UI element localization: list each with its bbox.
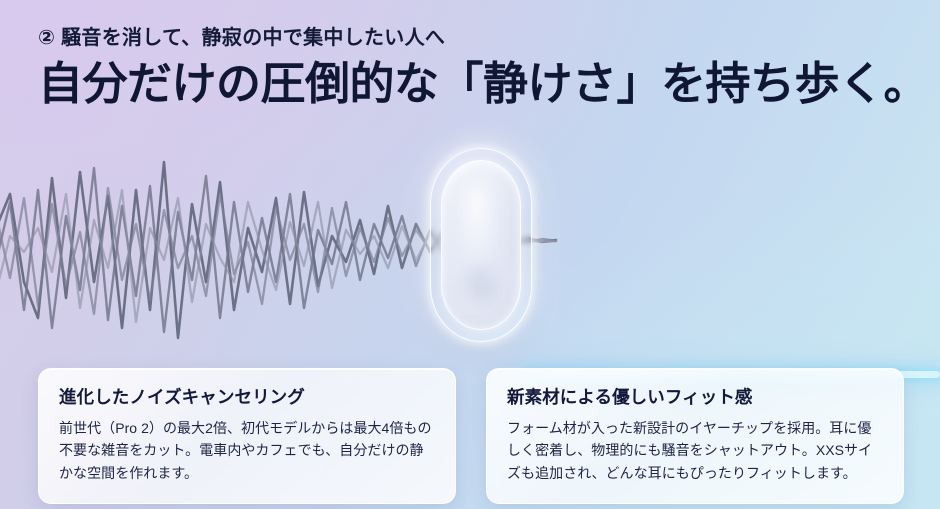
eyebrow-text: ② 騒音を消して、静寂の中で集中したい人へ [38,26,908,50]
feature-card-list: 進化したノイズキャンセリング 前世代（Pro 2）の最大2倍、初代モデルからは最… [38,368,904,504]
card-body: 前世代（Pro 2）の最大2倍、初代モデルからは最大4倍もの不要な雑音をカット。… [59,417,435,485]
card-body: フォーム材が入った新設計のイヤーチップを採用。耳に優しく密着し、物理的にも騒音を… [507,417,883,485]
card-title: 進化したノイズキャンセリング [59,386,435,409]
card-title: 新素材による優しいフィット感 [507,386,883,409]
capsule-highlight [464,185,490,271]
feature-card-noise-cancelling: 進化したノイズキャンセリング 前世代（Pro 2）の最大2倍、初代モデルからは最… [38,368,456,504]
page-title: 自分だけの圧倒的な「静けさ」を持ち歩く。 [38,58,908,110]
headline-block: ② 騒音を消して、静寂の中で集中したい人へ 自分だけの圧倒的な「静けさ」を持ち歩… [38,26,908,110]
capsule-inner-body [441,160,521,330]
earbud-case-capsule [430,148,532,342]
feature-card-fit: 新素材による優しいフィット感 フォーム材が入った新設計のイヤーチップを採用。耳に… [486,368,904,504]
slide-root: ② 騒音を消して、静寂の中で集中したい人へ 自分だけの圧倒的な「静けさ」を持ち歩… [0,0,940,509]
capsule-shadow-blob [466,271,500,305]
